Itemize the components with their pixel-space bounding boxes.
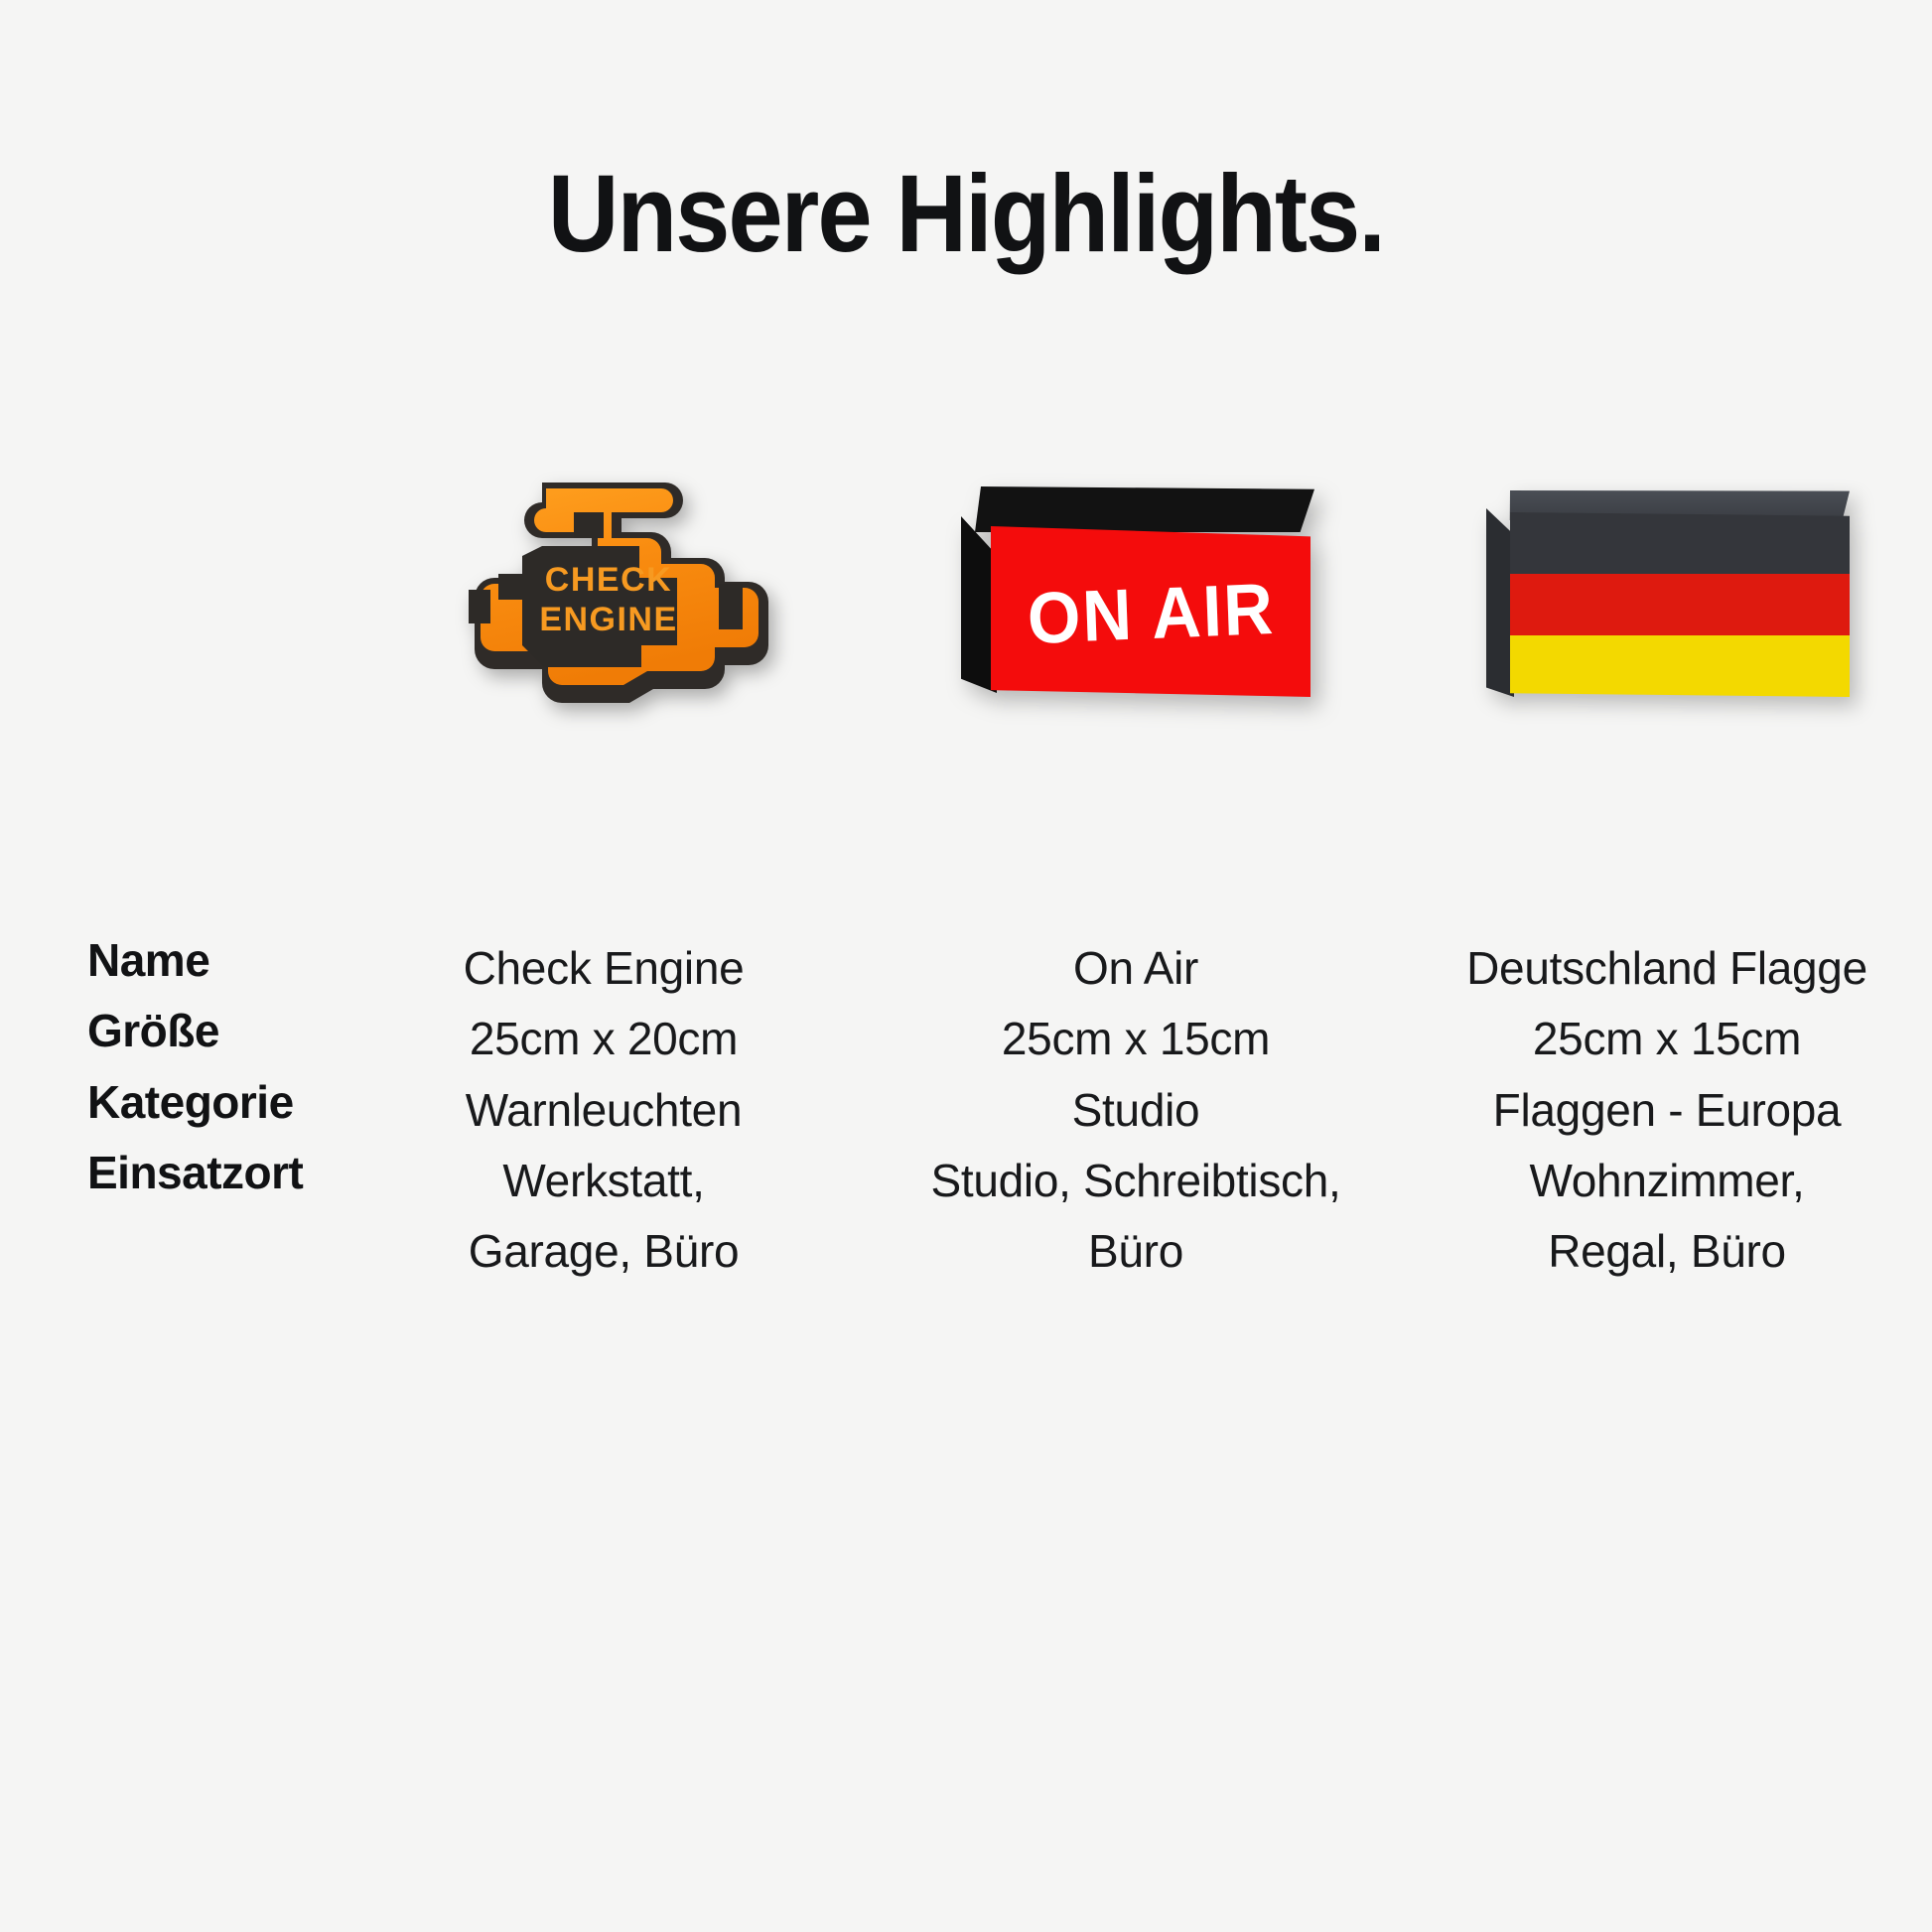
spec-cell-name-deutschland-flagge: Deutschland Flagge	[1402, 933, 1932, 1004]
spec-cell-einsatzort-deutschland-flagge: Wohnzimmer, Regal, Büro	[1402, 1146, 1932, 1288]
flag-band-gold	[1510, 635, 1850, 697]
spacer-cell	[0, 437, 338, 735]
spec-cell-einsatzort-check-engine: Werkstatt, Garage, Büro	[338, 1146, 870, 1288]
spec-cell-kategorie-on-air: Studio	[870, 1075, 1402, 1146]
highlights-page: Unsere Highlights.	[0, 0, 1932, 1932]
spec-cell-groesse-on-air: 25cm x 15cm	[870, 1004, 1402, 1074]
spec-cell-groesse-check-engine: 25cm x 20cm	[338, 1004, 870, 1074]
spec-row-label-einsatzort: Einsatzort	[0, 1146, 338, 1288]
page-title: Unsere Highlights.	[96, 151, 1835, 277]
flag-band-red	[1510, 574, 1850, 635]
spec-cell-name-check-engine: Check Engine	[338, 933, 870, 1004]
spec-comparison-table: Name Check Engine On Air Deutschland Fla…	[0, 933, 1932, 1287]
on-air-lightbox-icon: ON AIR	[957, 486, 1314, 697]
product-image-deutschland-flagge[interactable]	[1402, 437, 1932, 735]
german-flag-lightbox-icon	[1484, 490, 1850, 697]
spec-row-label-name: Name	[0, 933, 338, 1004]
check-engine-lamp-icon: CHECK ENGINE	[425, 467, 782, 717]
spec-cell-kategorie-check-engine: Warnleuchten	[338, 1075, 870, 1146]
on-air-box-top	[957, 486, 1314, 532]
spec-cell-einsatzort-on-air: Studio, Schreibtisch, Büro	[870, 1146, 1402, 1288]
product-image-on-air[interactable]: ON AIR	[870, 437, 1402, 735]
product-image-row: CHECK ENGINE ON AIR	[0, 437, 1932, 735]
spec-cell-kategorie-deutschland-flagge: Flaggen - Europa	[1402, 1075, 1932, 1146]
spec-row-label-kategorie: Kategorie	[0, 1075, 338, 1146]
product-image-check-engine[interactable]: CHECK ENGINE	[338, 437, 870, 735]
flag-band-black	[1510, 512, 1850, 574]
spec-row-label-groesse: Größe	[0, 1004, 338, 1074]
spec-cell-name-on-air: On Air	[870, 933, 1402, 1004]
flag-box-side	[1486, 508, 1514, 697]
spec-cell-groesse-deutschland-flagge: 25cm x 15cm	[1402, 1004, 1932, 1074]
flag-box-face	[1510, 512, 1850, 697]
on-air-box-face: ON AIR	[991, 526, 1311, 697]
on-air-text: ON AIR	[1026, 567, 1276, 659]
